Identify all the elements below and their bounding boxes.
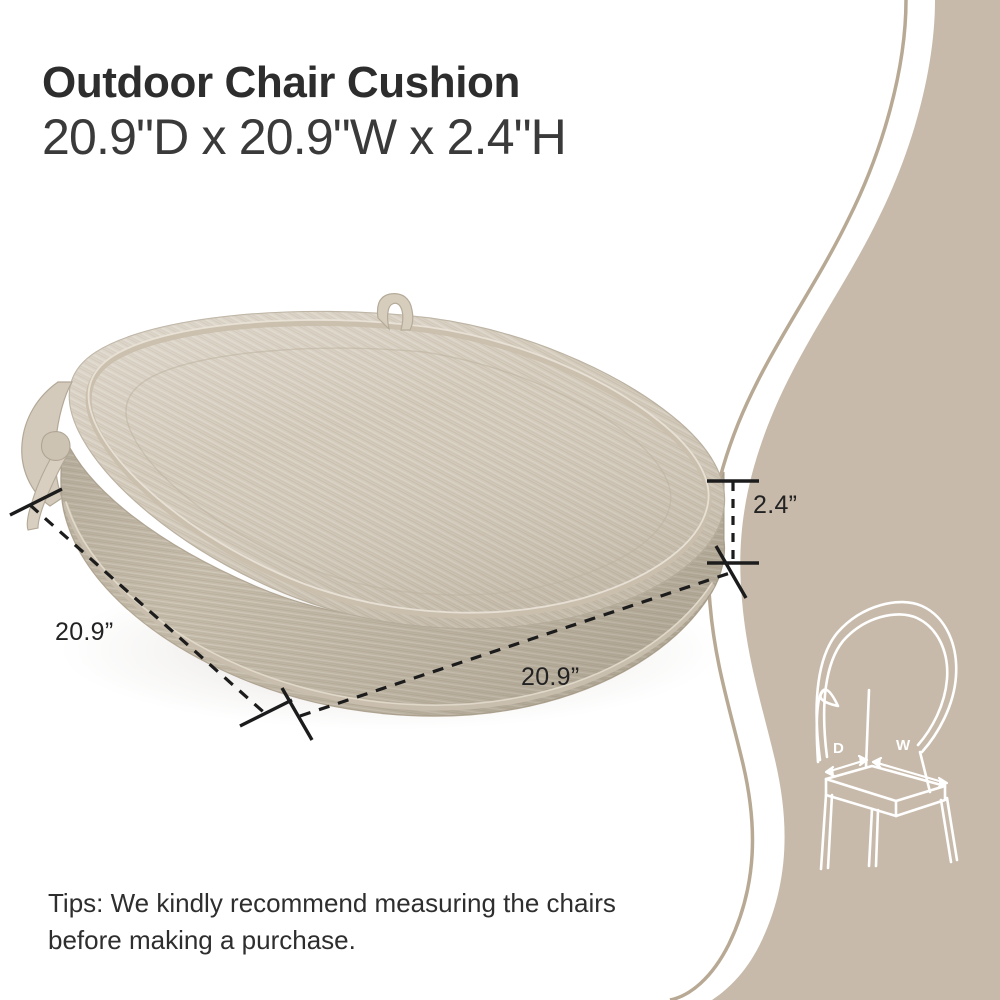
chair-leg-front-left	[821, 795, 826, 869]
cushion-illustration	[0, 0, 1000, 1000]
chair-seat-apron-right	[896, 786, 945, 816]
chair-frame-curve-inner	[824, 614, 947, 757]
chair-depth-letter: D	[833, 740, 844, 757]
width-dimension-label: 20.9”	[521, 663, 579, 692]
tips-line-1: Tips: We kindly recommend measuring the …	[48, 885, 738, 922]
chair-leg-center-b	[876, 810, 878, 866]
chair-leg-center	[869, 809, 872, 866]
height-dimension-label: 2.4”	[753, 491, 797, 520]
chair-leg-front-left-b	[828, 795, 832, 868]
chair-icon	[817, 602, 957, 869]
product-dimension-infographic: Outdoor Chair Cushion 20.9"D x 20.9"W x …	[0, 0, 1000, 1000]
chair-leg-rear	[920, 752, 930, 792]
chair-back-post	[866, 690, 869, 767]
tips-block: Tips: We kindly recommend measuring the …	[48, 885, 738, 959]
tips-line-2: before making a purchase.	[48, 922, 738, 959]
chair-width-letter: W	[896, 737, 911, 754]
cushion-corner-tie-knot	[41, 432, 70, 461]
chair-frame-curve-left	[817, 602, 957, 760]
depth-dimension-label: 20.9”	[55, 618, 113, 647]
